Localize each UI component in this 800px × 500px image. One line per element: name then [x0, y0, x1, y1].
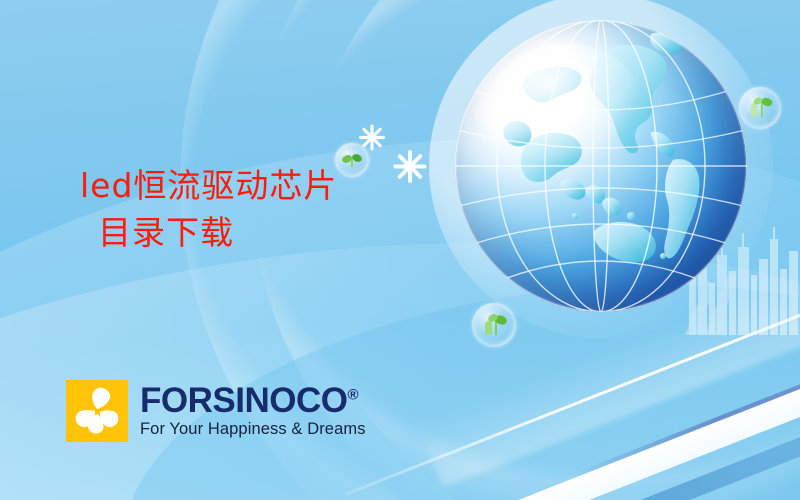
sprout-icon: [739, 87, 781, 129]
logo-company-name: FORSINOCO®: [140, 384, 366, 418]
pinwheel-petals: [66, 380, 128, 442]
globe-sphere: [455, 20, 747, 312]
four-petal-pinwheel-icon: [66, 380, 128, 442]
headline-block: led恒流驱动芯片 目录下载: [80, 163, 440, 257]
bubble-with-sprout-right: [739, 87, 781, 129]
registered-trademark-symbol: ®: [347, 386, 358, 403]
headline-line-2: 目录下载: [80, 210, 440, 257]
globe-rim-light: [455, 20, 747, 312]
earth-globe-graphic: [455, 20, 747, 312]
logo-name-text: FORSINOCO: [140, 381, 347, 420]
company-logo: FORSINOCO® For Your Happiness & Dreams: [66, 380, 366, 442]
logo-tagline: For Your Happiness & Dreams: [140, 420, 366, 438]
logo-wordmark: FORSINOCO® For Your Happiness & Dreams: [140, 384, 366, 439]
sprout-icon: [472, 303, 516, 347]
bubble-with-sprout-lower: [472, 303, 516, 347]
headline-line-1: led恒流驱动芯片: [80, 163, 440, 210]
banner-canvas: led恒流驱动芯片 目录下载 FORSINOCO® For Your Happi…: [0, 0, 800, 500]
